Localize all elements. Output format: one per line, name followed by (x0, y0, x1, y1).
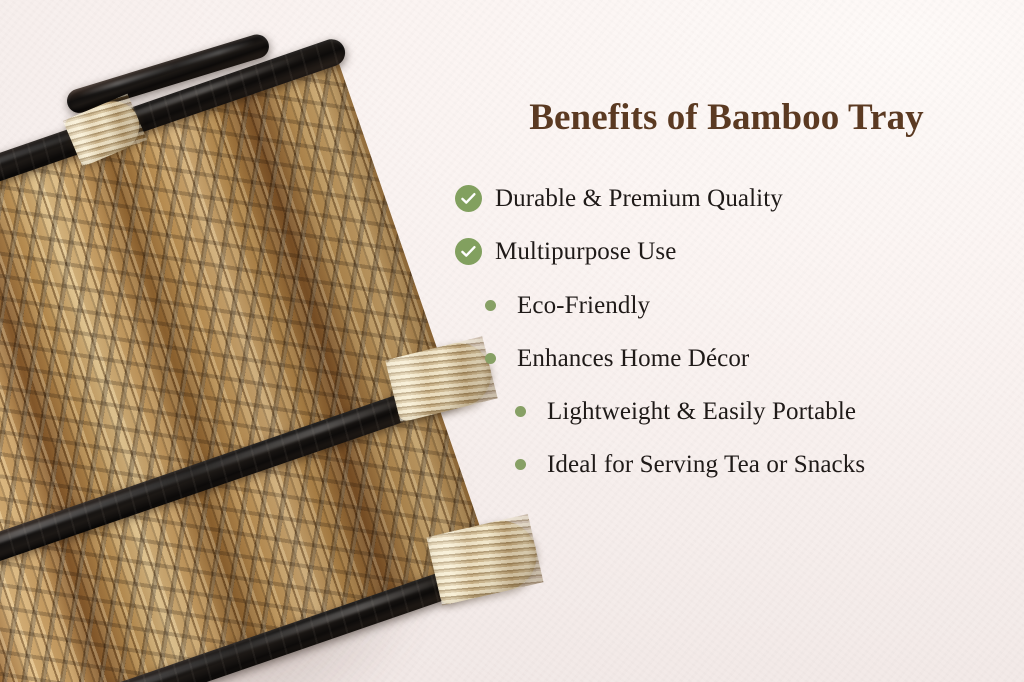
list-item: Eco-Friendly (455, 290, 1000, 321)
benefits-list: Durable & Premium Quality Multipurpose U… (455, 183, 1000, 481)
benefit-label: Ideal for Serving Tea or Snacks (547, 449, 865, 480)
benefit-label: Eco-Friendly (517, 290, 650, 321)
benefit-label: Lightweight & Easily Portable (547, 396, 856, 427)
list-item: Multipurpose Use (455, 236, 1000, 267)
benefit-label: Multipurpose Use (495, 236, 676, 267)
list-item: Lightweight & Easily Portable (455, 396, 1000, 427)
bullet-dot-icon (515, 406, 526, 417)
list-item: Ideal for Serving Tea or Snacks (455, 449, 1000, 480)
list-item: Durable & Premium Quality (455, 183, 1000, 214)
list-item: Enhances Home Décor (455, 343, 1000, 374)
marketing-graphic: Benefits of Bamboo Tray Durable & Premiu… (0, 0, 1024, 682)
bullet-dot-icon (485, 353, 496, 364)
benefit-label: Enhances Home Décor (517, 343, 749, 374)
page-title: Benefits of Bamboo Tray (453, 96, 1000, 139)
benefits-panel: Benefits of Bamboo Tray Durable & Premiu… (455, 96, 1000, 503)
check-icon (455, 185, 482, 212)
bullet-dot-icon (485, 300, 496, 311)
benefit-label: Durable & Premium Quality (495, 183, 783, 214)
bullet-dot-icon (515, 459, 526, 470)
check-icon (455, 238, 482, 265)
